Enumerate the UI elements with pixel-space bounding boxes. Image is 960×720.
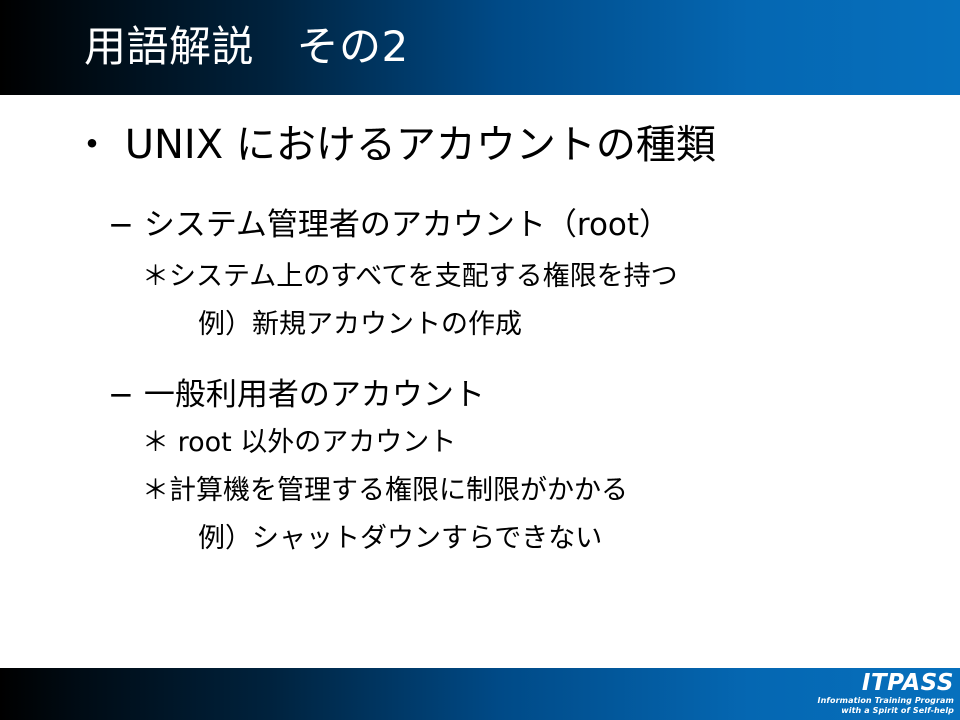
bullet-level3-non-root: ＊ root 以外のアカウント	[142, 425, 456, 461]
slide-body: ・ UNIX におけるアカウントの種類 − システム管理者のアカウント（root…	[0, 95, 960, 668]
page-title: 用語解説 その2	[84, 19, 409, 75]
itpass-logo-name: ITPASS	[818, 671, 954, 696]
itpass-logo-tagline-line1: Information Training Program	[818, 696, 954, 706]
bullet-level2-general-account: − 一般利用者のアカウント	[108, 375, 485, 415]
itpass-logo: ITPASS Information Training Program with…	[818, 671, 954, 716]
bullet-level1: ・ UNIX におけるアカウントの種類	[72, 121, 716, 169]
bullet-level4-admin-example: 例）新規アカウントの作成	[198, 307, 522, 343]
bullet-level3-limited-privileges: ＊計算機を管理する権限に制限がかかる	[142, 473, 628, 509]
bullet-level2-admin-account: − システム管理者のアカウント（root）	[108, 205, 670, 245]
footer-band: ITPASS Information Training Program with…	[0, 668, 960, 720]
bullet-level4-general-example: 例）シャットダウンすらできない	[198, 521, 602, 557]
slide: 用語解説 その2 ・ UNIX におけるアカウントの種類 − システム管理者のア…	[0, 0, 960, 720]
itpass-logo-tagline-line2: with a Spirit of Self-help	[818, 706, 954, 716]
bullet-level3-admin-privileges: ＊システム上のすべてを支配する権限を持つ	[142, 259, 678, 295]
header-band: 用語解説 その2	[0, 0, 960, 95]
